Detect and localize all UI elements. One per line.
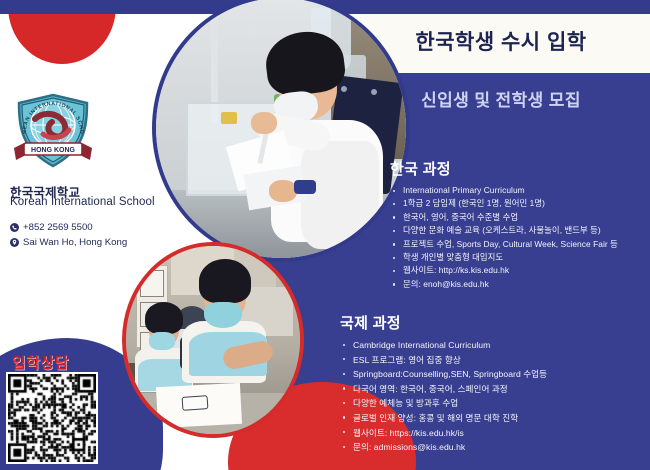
school-crest-icon: KOREAN INTERNATIONAL SCHOOL HONG KONG [12, 92, 94, 174]
list-item: 웹사이트: https://kis.edu.hk/is [340, 426, 645, 441]
list-item: 다양한 예체능 및 방과후 수업 [340, 396, 645, 411]
student-cuff [294, 180, 316, 194]
korean-course-section: 한국 과정 International Primary Curriculum 1… [390, 158, 645, 291]
clipboard-rivet-right [371, 89, 377, 95]
list-item: International Primary Curriculum [390, 184, 645, 197]
school-name-english: Korean International School [10, 196, 155, 208]
list-item: 웹사이트: http://ks.kis.edu.hk [390, 264, 645, 277]
student-hand [251, 112, 277, 134]
list-item: 학생 개인별 맞춤형 대입지도 [390, 251, 645, 264]
lab-yellow-object [221, 112, 237, 124]
art-student-two-mask [149, 332, 175, 350]
art-sketch-lines [181, 396, 208, 412]
list-item: Cambridge International Curriculum [340, 338, 645, 353]
qr-code[interactable] [6, 372, 98, 464]
international-course-bullets: Cambridge International Curriculum ESL 프… [340, 338, 645, 455]
contact-address-value: Sai Wan Ho, Hong Kong [23, 237, 127, 248]
contact-phone-value: +852 2569 5500 [23, 222, 93, 233]
list-item: 프로젝트 수업, Sports Day, Cultural Week, Scie… [390, 238, 645, 251]
list-item: 1학급 2 담임제 (한국인 1명, 원어민 1명) [390, 197, 645, 210]
contact-address: Sai Wan Ho, Hong Kong [10, 237, 127, 248]
art-student-two-hair [145, 302, 183, 334]
international-course-section: 국제 과정 Cambridge International Curriculum… [340, 312, 645, 455]
international-course-title: 국제 과정 [340, 312, 645, 333]
phone-icon [10, 223, 19, 232]
qr-label: 입학상담 [12, 352, 69, 373]
korean-course-title: 한국 과정 [390, 158, 645, 179]
qr-code-canvas[interactable] [8, 374, 96, 462]
korean-course-bullets: International Primary Curriculum 1학급 2 담… [390, 184, 645, 291]
list-item: Springboard:Counselling,SEN, Springboard… [340, 367, 645, 382]
list-item: 다국어 영역: 한국어, 중국어, 스페인어 과정 [340, 382, 645, 397]
page-title: 한국학생 수시 입학 [370, 26, 632, 56]
student-hand-lower [269, 180, 297, 202]
student-lab-coat-back [301, 141, 379, 249]
artwork-frame-one [140, 270, 164, 296]
admissions-poster: 한국학생 수시 입학 신입생 및 전학생 모집 [0, 0, 650, 470]
list-item: ESL 프로그램: 영어 집중 향상 [340, 353, 645, 368]
art-class-photo [122, 242, 304, 438]
list-item: 다양한 문화 예술 교육 (오케스트라, 사물놀이, 밴드부 등) [390, 224, 645, 237]
science-lab-photo [152, 0, 410, 262]
school-logo: KOREAN INTERNATIONAL SCHOOL HONG KONG [12, 92, 94, 174]
location-pin-icon [10, 238, 19, 247]
svg-text:HONG KONG: HONG KONG [31, 147, 76, 154]
contact-phone: +852 2569 5500 [10, 222, 93, 233]
list-item: 글로벌 인재 양성: 홍콩 및 해외 명문 대학 진학 [340, 411, 645, 426]
page-subtitle: 신입생 및 전학생 모집 [370, 86, 632, 111]
list-item: 한국어, 영어, 중국어 수준별 수업 [390, 211, 645, 224]
list-item: 문의: admissions@kis.edu.hk [340, 440, 645, 455]
art-student-one-hair [199, 259, 251, 303]
list-item: 문의: enoh@kis.edu.hk [390, 278, 645, 291]
